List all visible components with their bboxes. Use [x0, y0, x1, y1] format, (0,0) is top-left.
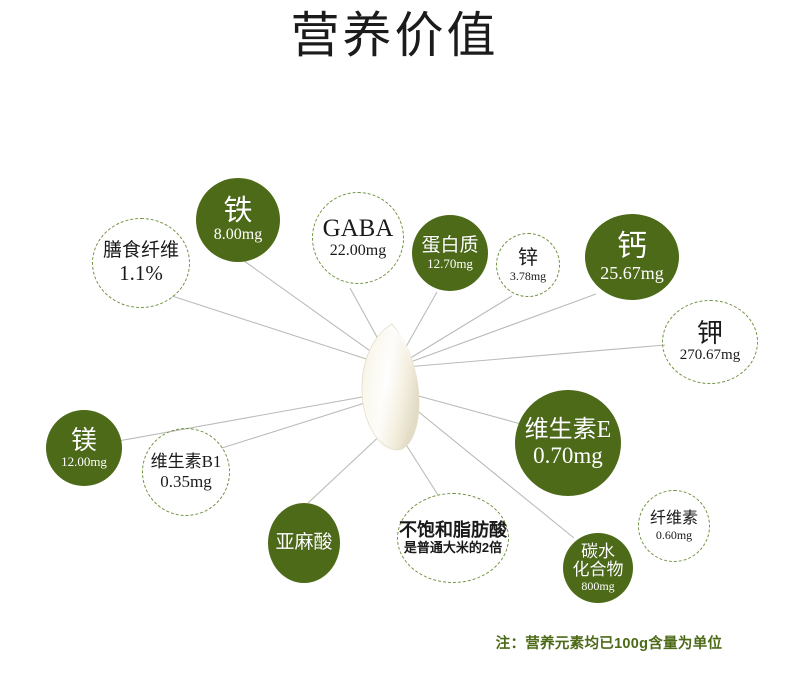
nutrient-name: 铁	[223, 196, 252, 227]
nutrient-name: 不饱和脂肪酸	[399, 521, 507, 540]
nutrient-name: 锌	[518, 248, 538, 269]
nutrient-node-protein[interactable]: 蛋白质12.70mg	[412, 215, 488, 291]
nutrient-node-potassium[interactable]: 钾270.67mg	[662, 300, 758, 384]
nutrient-value: 0.35mg	[160, 473, 211, 491]
nutrient-node-vitamin-b1[interactable]: 维生素B10.35mg	[142, 428, 230, 516]
nutrient-value: 12.00mg	[61, 455, 107, 469]
line-gaba	[350, 288, 394, 368]
line-potassium	[394, 345, 665, 368]
line-unsaturated	[398, 432, 438, 495]
line-magnesium	[118, 392, 390, 441]
nutrient-node-carbohydrate[interactable]: 碳水 化合物800mg	[563, 533, 633, 603]
nutrient-value: 22.00mg	[330, 243, 386, 260]
nutrient-value: 270.67mg	[680, 348, 740, 364]
nutrient-name: 钾	[697, 320, 723, 348]
line-vitamin-e	[404, 392, 521, 424]
rice-grain-icon	[362, 324, 419, 450]
nutrient-name: 碳水 化合物	[573, 543, 624, 579]
nutrient-value: 0.70mg	[533, 444, 603, 468]
nutrient-node-cellulose[interactable]: 纤维素0.60mg	[638, 490, 710, 562]
nutrient-name: 纤维素	[650, 511, 698, 528]
nutrient-value: 25.67mg	[600, 264, 664, 283]
nutrient-value: 3.78mg	[510, 270, 546, 283]
line-vitamin-b1	[222, 395, 390, 448]
nutrient-node-zinc[interactable]: 锌3.78mg	[496, 233, 560, 297]
nutrient-value: 0.60mg	[656, 529, 692, 542]
nutrient-value: 12.70mg	[427, 257, 473, 271]
infographic-page: 营养价值 膳食纤维1.1%铁	[0, 0, 789, 692]
line-zinc	[394, 296, 512, 368]
nutrient-name: 膳食纤维	[103, 241, 179, 261]
line-protein	[394, 292, 437, 368]
footnote-text: 注：营养元素均已100g含量为单位	[449, 632, 769, 653]
nutrient-node-vitamin-e[interactable]: 维生素E0.70mg	[515, 390, 621, 496]
nutrient-name: 维生素B1	[151, 453, 222, 471]
line-calcium	[394, 294, 596, 368]
nutrient-name: 钙	[617, 231, 647, 263]
nutrient-node-calcium[interactable]: 钙25.67mg	[585, 214, 679, 300]
nutrient-name: GABA	[323, 216, 394, 243]
nutrient-node-linolenic-acid[interactable]: 亚麻酸	[268, 503, 340, 583]
nutrient-value: 是普通大米的2倍	[404, 541, 502, 555]
nutrient-node-iron[interactable]: 铁8.00mg	[196, 178, 280, 262]
line-dietary-fiber	[172, 296, 394, 368]
nutrient-name: 维生素E	[525, 418, 612, 443]
nutrient-name: 镁	[71, 427, 97, 455]
nutrient-value: 800mg	[581, 580, 614, 593]
nutrient-name: 亚麻酸	[275, 533, 332, 553]
page-title: 营养价值	[0, 8, 789, 66]
line-linolenic	[308, 430, 386, 503]
nutrient-name: 蛋白质	[421, 236, 478, 256]
nutrient-value: 8.00mg	[214, 227, 262, 244]
nutrient-node-dietary-fiber[interactable]: 膳食纤维1.1%	[92, 218, 190, 308]
nutrient-node-magnesium[interactable]: 镁12.00mg	[46, 410, 122, 486]
nutrient-node-unsaturated-fatty-acid[interactable]: 不饱和脂肪酸是普通大米的2倍	[397, 493, 509, 583]
nutrient-value: 1.1%	[119, 262, 163, 284]
nutrient-node-gaba[interactable]: GABA22.00mg	[312, 192, 404, 284]
